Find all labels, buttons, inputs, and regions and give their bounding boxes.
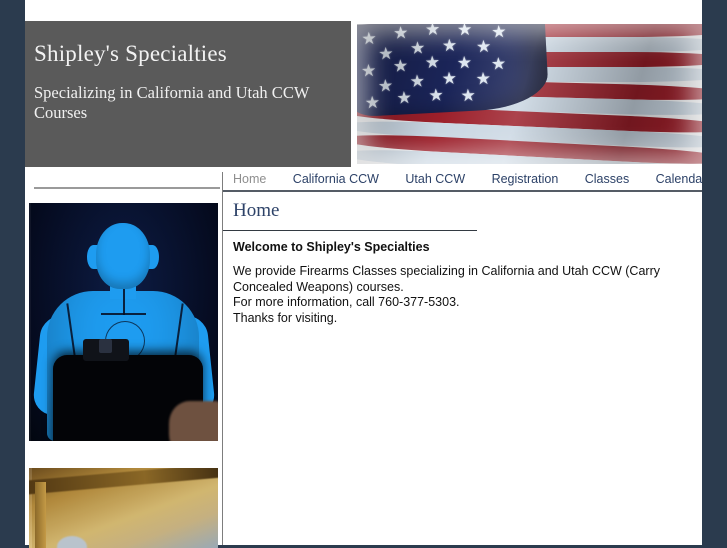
nav-item-home[interactable]: Home [222, 170, 277, 190]
flag-inner: ★ ★ ★ ★ ★ ★ ★ ★ ★ ★ ★ ★ ★ ★ ★ ★ ★ [357, 24, 702, 164]
nav-item-utah-ccw[interactable]: Utah CCW [394, 170, 476, 190]
body-paragraph: We provide Firearms Classes specializing… [233, 264, 683, 326]
page-frame: Shipley's Specialties Specializing in Ca… [25, 0, 702, 545]
range-post [35, 482, 46, 548]
nav-item-registration[interactable]: Registration [481, 170, 570, 190]
nav-item-calendar[interactable]: Calendar [645, 170, 702, 190]
sidebar [25, 168, 222, 545]
nav-item-classes[interactable]: Classes [574, 170, 640, 190]
page-title-rule [223, 230, 477, 231]
page-left-border [0, 0, 25, 545]
shooting-target-photo [29, 203, 218, 441]
indoor-range-photo [29, 468, 218, 548]
welcome-heading: Welcome to Shipley's Specialties [233, 240, 430, 254]
sidebar-top-rule [34, 187, 220, 189]
top-white-strip [25, 0, 702, 17]
american-flag-banner-image: ★ ★ ★ ★ ★ ★ ★ ★ ★ ★ ★ ★ ★ ★ ★ ★ ★ [357, 21, 702, 167]
site-tagline: Specializing in California and Utah CCW … [34, 83, 334, 123]
site-header: Shipley's Specialties Specializing in Ca… [25, 21, 702, 167]
page-right-border [702, 0, 727, 545]
site-title: Shipley's Specialties [34, 41, 227, 67]
shooter-thumb [169, 401, 218, 441]
main-content: Home Welcome to Shipley's Specialties We… [223, 192, 702, 545]
header-title-box: Shipley's Specialties Specializing in Ca… [25, 21, 351, 167]
main-navigation[interactable]: Home California CCW Utah CCW Registratio… [222, 170, 702, 192]
nav-item-california-ccw[interactable]: California CCW [282, 170, 390, 190]
page-title: Home [233, 200, 279, 222]
pistol-rear-sight [99, 339, 112, 353]
